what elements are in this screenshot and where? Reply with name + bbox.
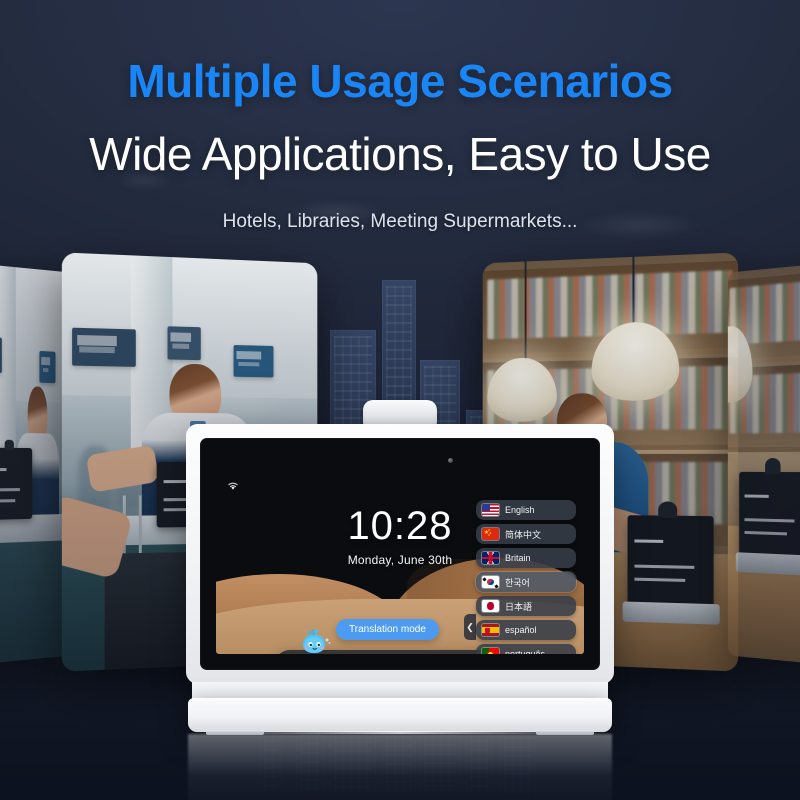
language-list[interactable]: English ★ ★ ★ ★ 简体中文 bbox=[476, 500, 576, 654]
tablet-screen[interactable]: 10:28 Monday, June 30th Translation mode bbox=[216, 472, 584, 654]
flag-jp-icon bbox=[482, 600, 499, 612]
flag-es-icon bbox=[482, 624, 499, 636]
wifi-icon bbox=[226, 480, 240, 491]
tablet-shell: 10:28 Monday, June 30th Translation mode bbox=[186, 424, 614, 684]
translation-mode-button[interactable]: Translation mode bbox=[336, 619, 439, 640]
tablet-reflection bbox=[188, 734, 612, 800]
page-tagline: Hotels, Libraries, Meeting Supermarkets.… bbox=[0, 211, 800, 233]
promotional-banner: Multiple Usage Scenarios Wide Applicatio… bbox=[0, 0, 800, 800]
flag-cn-icon: ★ ★ ★ ★ bbox=[482, 528, 499, 540]
language-item-korean[interactable]: 한국어 bbox=[476, 572, 576, 592]
flag-kr-icon bbox=[482, 576, 499, 588]
language-label: 한국어 bbox=[505, 576, 530, 589]
language-item-english[interactable]: English bbox=[476, 500, 576, 520]
language-label: English bbox=[505, 505, 535, 515]
flag-us-icon bbox=[482, 504, 499, 516]
language-item-simplified-chinese[interactable]: ★ ★ ★ ★ 简体中文 bbox=[476, 524, 576, 544]
scene-image-retail-counter bbox=[728, 263, 800, 665]
chevron-left-icon[interactable]: ❮ bbox=[464, 614, 476, 640]
headline-block: Multiple Usage Scenarios Wide Applicatio… bbox=[0, 58, 800, 233]
language-label: español bbox=[505, 625, 537, 635]
language-item-japanese[interactable]: 日本語 bbox=[476, 596, 576, 616]
language-item-portuguese[interactable]: português bbox=[476, 644, 576, 654]
translation-tablet-device: 10:28 Monday, June 30th Translation mode bbox=[186, 400, 614, 730]
language-label: 简体中文 bbox=[505, 528, 541, 541]
language-label: português bbox=[505, 649, 545, 654]
page-title-secondary: Wide Applications, Easy to Use bbox=[0, 127, 800, 181]
tablet-bezel: 10:28 Monday, June 30th Translation mode bbox=[200, 438, 600, 670]
language-label: 日本語 bbox=[505, 600, 532, 613]
page-title-primary: Multiple Usage Scenarios bbox=[0, 58, 800, 105]
language-label: Britain bbox=[505, 553, 531, 563]
language-item-spanish[interactable]: español bbox=[476, 620, 576, 640]
flag-gb-icon bbox=[482, 552, 499, 564]
front-camera-icon bbox=[448, 458, 453, 463]
language-item-britain[interactable]: Britain bbox=[476, 548, 576, 568]
tablet-base bbox=[188, 698, 612, 732]
blue-blob-mascot-icon bbox=[298, 628, 332, 654]
flag-pt-icon bbox=[482, 648, 499, 654]
scene-panel-far-right bbox=[728, 263, 800, 665]
scene-device-screen bbox=[628, 515, 714, 608]
